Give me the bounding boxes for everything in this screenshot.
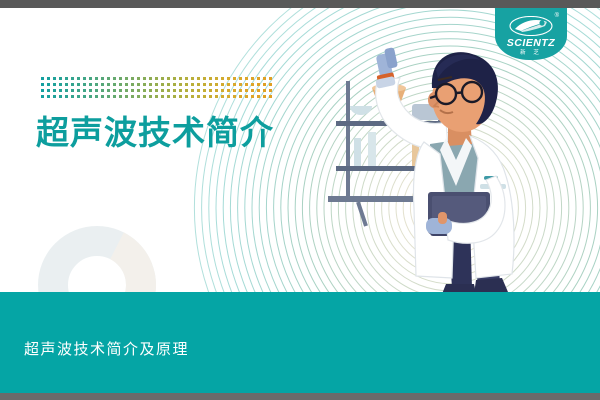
grid-dot (89, 95, 92, 98)
grid-dot (167, 83, 170, 86)
grid-dot (263, 83, 266, 86)
grid-dot (47, 89, 50, 92)
grid-dot (185, 83, 188, 86)
grid-dot (227, 89, 230, 92)
grid-dot (269, 95, 272, 98)
grid-dot (167, 95, 170, 98)
grid-dot (173, 83, 176, 86)
grid-dot (245, 83, 248, 86)
grid-dot (197, 89, 200, 92)
grid-dot (107, 89, 110, 92)
grid-dot (209, 89, 212, 92)
grid-dot (65, 83, 68, 86)
grid-dot (191, 89, 194, 92)
grid-dot (53, 77, 56, 80)
grid-dot (89, 89, 92, 92)
window-chrome-top-bar (0, 0, 600, 8)
grid-dot (149, 83, 152, 86)
grid-dot (101, 77, 104, 80)
grid-dot (53, 95, 56, 98)
grid-dot (179, 89, 182, 92)
grid-dot (251, 95, 254, 98)
grid-dot (191, 77, 194, 80)
grid-dot (71, 83, 74, 86)
grid-dot (203, 89, 206, 92)
grid-dot (47, 77, 50, 80)
grid-dot (227, 83, 230, 86)
grid-dot (71, 77, 74, 80)
grid-dot (125, 83, 128, 86)
grid-dot (161, 77, 164, 80)
grid-dot (65, 95, 68, 98)
grid-dot (155, 95, 158, 98)
grid-dot (263, 77, 266, 80)
grid-dot (83, 89, 86, 92)
scientist-with-test-tube-illustration (320, 26, 570, 306)
grid-dot (83, 77, 86, 80)
grid-dot (209, 77, 212, 80)
logo-swoosh-icon (509, 16, 553, 36)
grid-dot (113, 95, 116, 98)
grid-dot (251, 83, 254, 86)
grid-dot (53, 83, 56, 86)
grid-dot (239, 89, 242, 92)
grid-dot (209, 83, 212, 86)
page-title: 超声波技术简介 (36, 106, 274, 154)
grid-dot (191, 95, 194, 98)
grid-dot (185, 89, 188, 92)
grid-dot (107, 95, 110, 98)
grid-dot (239, 95, 242, 98)
grid-dot (41, 83, 44, 86)
grid-dot (227, 95, 230, 98)
grid-dot (77, 89, 80, 92)
grid-dot (227, 77, 230, 80)
grid-dot (245, 89, 248, 92)
grid-dot (89, 83, 92, 86)
logo-chinese-name: 新 芝 (495, 48, 567, 56)
grid-dot (203, 77, 206, 80)
grid-dot (245, 95, 248, 98)
scientz-shield-logo: ® SCIENTZ 新 芝 (495, 8, 567, 60)
grid-dot (173, 77, 176, 80)
grid-dot (101, 89, 104, 92)
grid-dot (149, 89, 152, 92)
grid-dot (179, 77, 182, 80)
grid-dot (59, 83, 62, 86)
grid-dot (179, 95, 182, 98)
grid-dot (215, 89, 218, 92)
grid-dot (221, 95, 224, 98)
presentation-slide-frame: 超声波技术简介 超声波技术简介及原理 ® SCIENTZ 新 芝 (0, 0, 600, 400)
grid-dot (113, 77, 116, 80)
grid-dot (221, 83, 224, 86)
grid-dot (209, 95, 212, 98)
grid-dot (155, 77, 158, 80)
grid-dot (77, 95, 80, 98)
grid-dot (173, 89, 176, 92)
grid-dot (83, 95, 86, 98)
grid-dot (83, 83, 86, 86)
grid-dot (203, 95, 206, 98)
grid-dot (137, 77, 140, 80)
grid-dot (95, 89, 98, 92)
grid-dot (107, 83, 110, 86)
grid-dot (125, 89, 128, 92)
grid-dot (215, 77, 218, 80)
grid-dot (131, 95, 134, 98)
grid-dot (161, 83, 164, 86)
grid-dot (191, 83, 194, 86)
grid-dot (119, 89, 122, 92)
grid-dot (47, 83, 50, 86)
slide-canvas: 超声波技术简介 超声波技术简介及原理 ® SCIENTZ 新 芝 (0, 8, 600, 393)
grid-dot (41, 95, 44, 98)
grid-dot (155, 89, 158, 92)
gloved-hand-with-vial (375, 47, 398, 89)
grid-dot (197, 83, 200, 86)
registered-trademark-mark: ® (555, 13, 559, 19)
grid-dot (167, 77, 170, 80)
grid-dot (125, 77, 128, 80)
grid-dot (257, 89, 260, 92)
grid-dot (161, 89, 164, 92)
grid-dot (101, 83, 104, 86)
grid-dot (71, 89, 74, 92)
grid-dot (221, 89, 224, 92)
grid-dot (251, 89, 254, 92)
footer-subtitle: 超声波技术简介及原理 (24, 338, 189, 359)
grid-dot (269, 77, 272, 80)
grid-dot (53, 89, 56, 92)
grid-dot (251, 77, 254, 80)
grid-dot (59, 89, 62, 92)
grid-dot (239, 77, 242, 80)
grid-dot (185, 95, 188, 98)
grid-dot (233, 95, 236, 98)
grid-dot (203, 83, 206, 86)
grid-dot (143, 77, 146, 80)
grid-dot (143, 83, 146, 86)
grid-dot (257, 95, 260, 98)
grid-dot (257, 83, 260, 86)
grid-dot (197, 95, 200, 98)
grid-dot (149, 77, 152, 80)
grid-dot (89, 77, 92, 80)
grid-dot (149, 95, 152, 98)
grid-dot (71, 95, 74, 98)
grid-dot (65, 77, 68, 80)
grid-dot (179, 83, 182, 86)
grid-dot (113, 89, 116, 92)
grid-dot (173, 95, 176, 98)
grid-dot (119, 83, 122, 86)
grid-dot (233, 83, 236, 86)
grid-dot (95, 95, 98, 98)
grid-dot (215, 95, 218, 98)
grid-dot (257, 77, 260, 80)
grid-dot (101, 95, 104, 98)
grid-dot (239, 83, 242, 86)
grid-dot (167, 89, 170, 92)
grid-dot (131, 89, 134, 92)
grid-dot (233, 89, 236, 92)
grid-dot (125, 95, 128, 98)
grid-dot (95, 77, 98, 80)
grid-dot (95, 83, 98, 86)
window-chrome-bottom-bar (0, 393, 600, 400)
grid-dot (131, 83, 134, 86)
grid-dot (137, 95, 140, 98)
grid-dot (263, 95, 266, 98)
grid-dot (113, 83, 116, 86)
grid-dot (263, 89, 266, 92)
grid-dot (77, 77, 80, 80)
grid-dot (119, 77, 122, 80)
grid-dot (185, 77, 188, 80)
grid-dot (41, 89, 44, 92)
grid-dot (269, 83, 272, 86)
grid-dot (41, 77, 44, 80)
grid-dot (155, 83, 158, 86)
grid-dot (47, 95, 50, 98)
grid-dot (59, 77, 62, 80)
dot-gradient-grid (39, 75, 273, 99)
grid-dot (137, 89, 140, 92)
grid-dot (77, 83, 80, 86)
grid-dot (215, 83, 218, 86)
grid-dot (197, 77, 200, 80)
grid-dot (137, 83, 140, 86)
grid-dot (131, 77, 134, 80)
grid-dot (143, 95, 146, 98)
wrist (438, 212, 447, 224)
grid-dot (59, 95, 62, 98)
grid-dot (161, 95, 164, 98)
grid-dot (65, 89, 68, 92)
grid-dot (119, 95, 122, 98)
grid-dot (143, 89, 146, 92)
grid-dot (269, 89, 272, 92)
grid-dot (245, 77, 248, 80)
grid-dot (233, 77, 236, 80)
grid-dot (107, 77, 110, 80)
grid-dot (221, 77, 224, 80)
